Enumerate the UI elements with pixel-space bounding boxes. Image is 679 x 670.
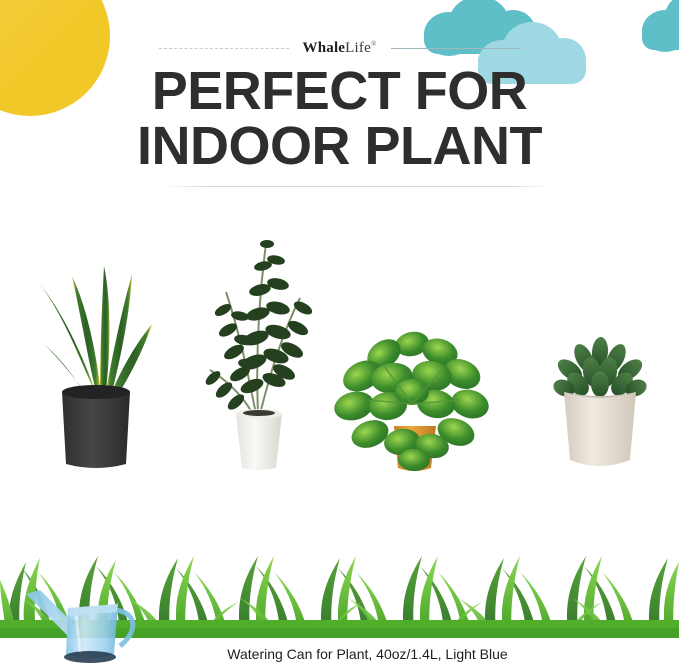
- headline-line-2: INDOOR PLANT: [0, 119, 679, 174]
- brand-logo: WhaleLife®: [303, 40, 377, 57]
- snake-plant-photo: [32, 250, 160, 472]
- devils-ivy-photo: [332, 308, 492, 476]
- headline-divider: [163, 186, 553, 187]
- product-caption-text: Watering Can for Plant, 40oz/1.4L, Light…: [171, 646, 507, 662]
- registered-trademark-icon: ®: [371, 40, 377, 48]
- headline-line-1: PERFECT FOR: [152, 61, 528, 121]
- brand-rule-left: [159, 48, 289, 49]
- plant-gallery: Snake plant: [0, 200, 679, 510]
- brand-row: WhaleLife®: [0, 36, 679, 60]
- product-caption: Watering Can for Plant, 40oz/1.4L, Light…: [0, 646, 679, 662]
- brand-rule-right: [391, 48, 521, 49]
- zamioculcas-photo: [196, 214, 318, 472]
- brand-name-light: Life: [345, 40, 371, 56]
- succulent-photo: [544, 326, 656, 474]
- brand-name-bold: Whale: [303, 40, 346, 56]
- page-title: PERFECT FOR INDOOR PLANT: [0, 64, 679, 174]
- product-infographic: WhaleLife® PERFECT FOR INDOOR PLANT: [0, 0, 679, 670]
